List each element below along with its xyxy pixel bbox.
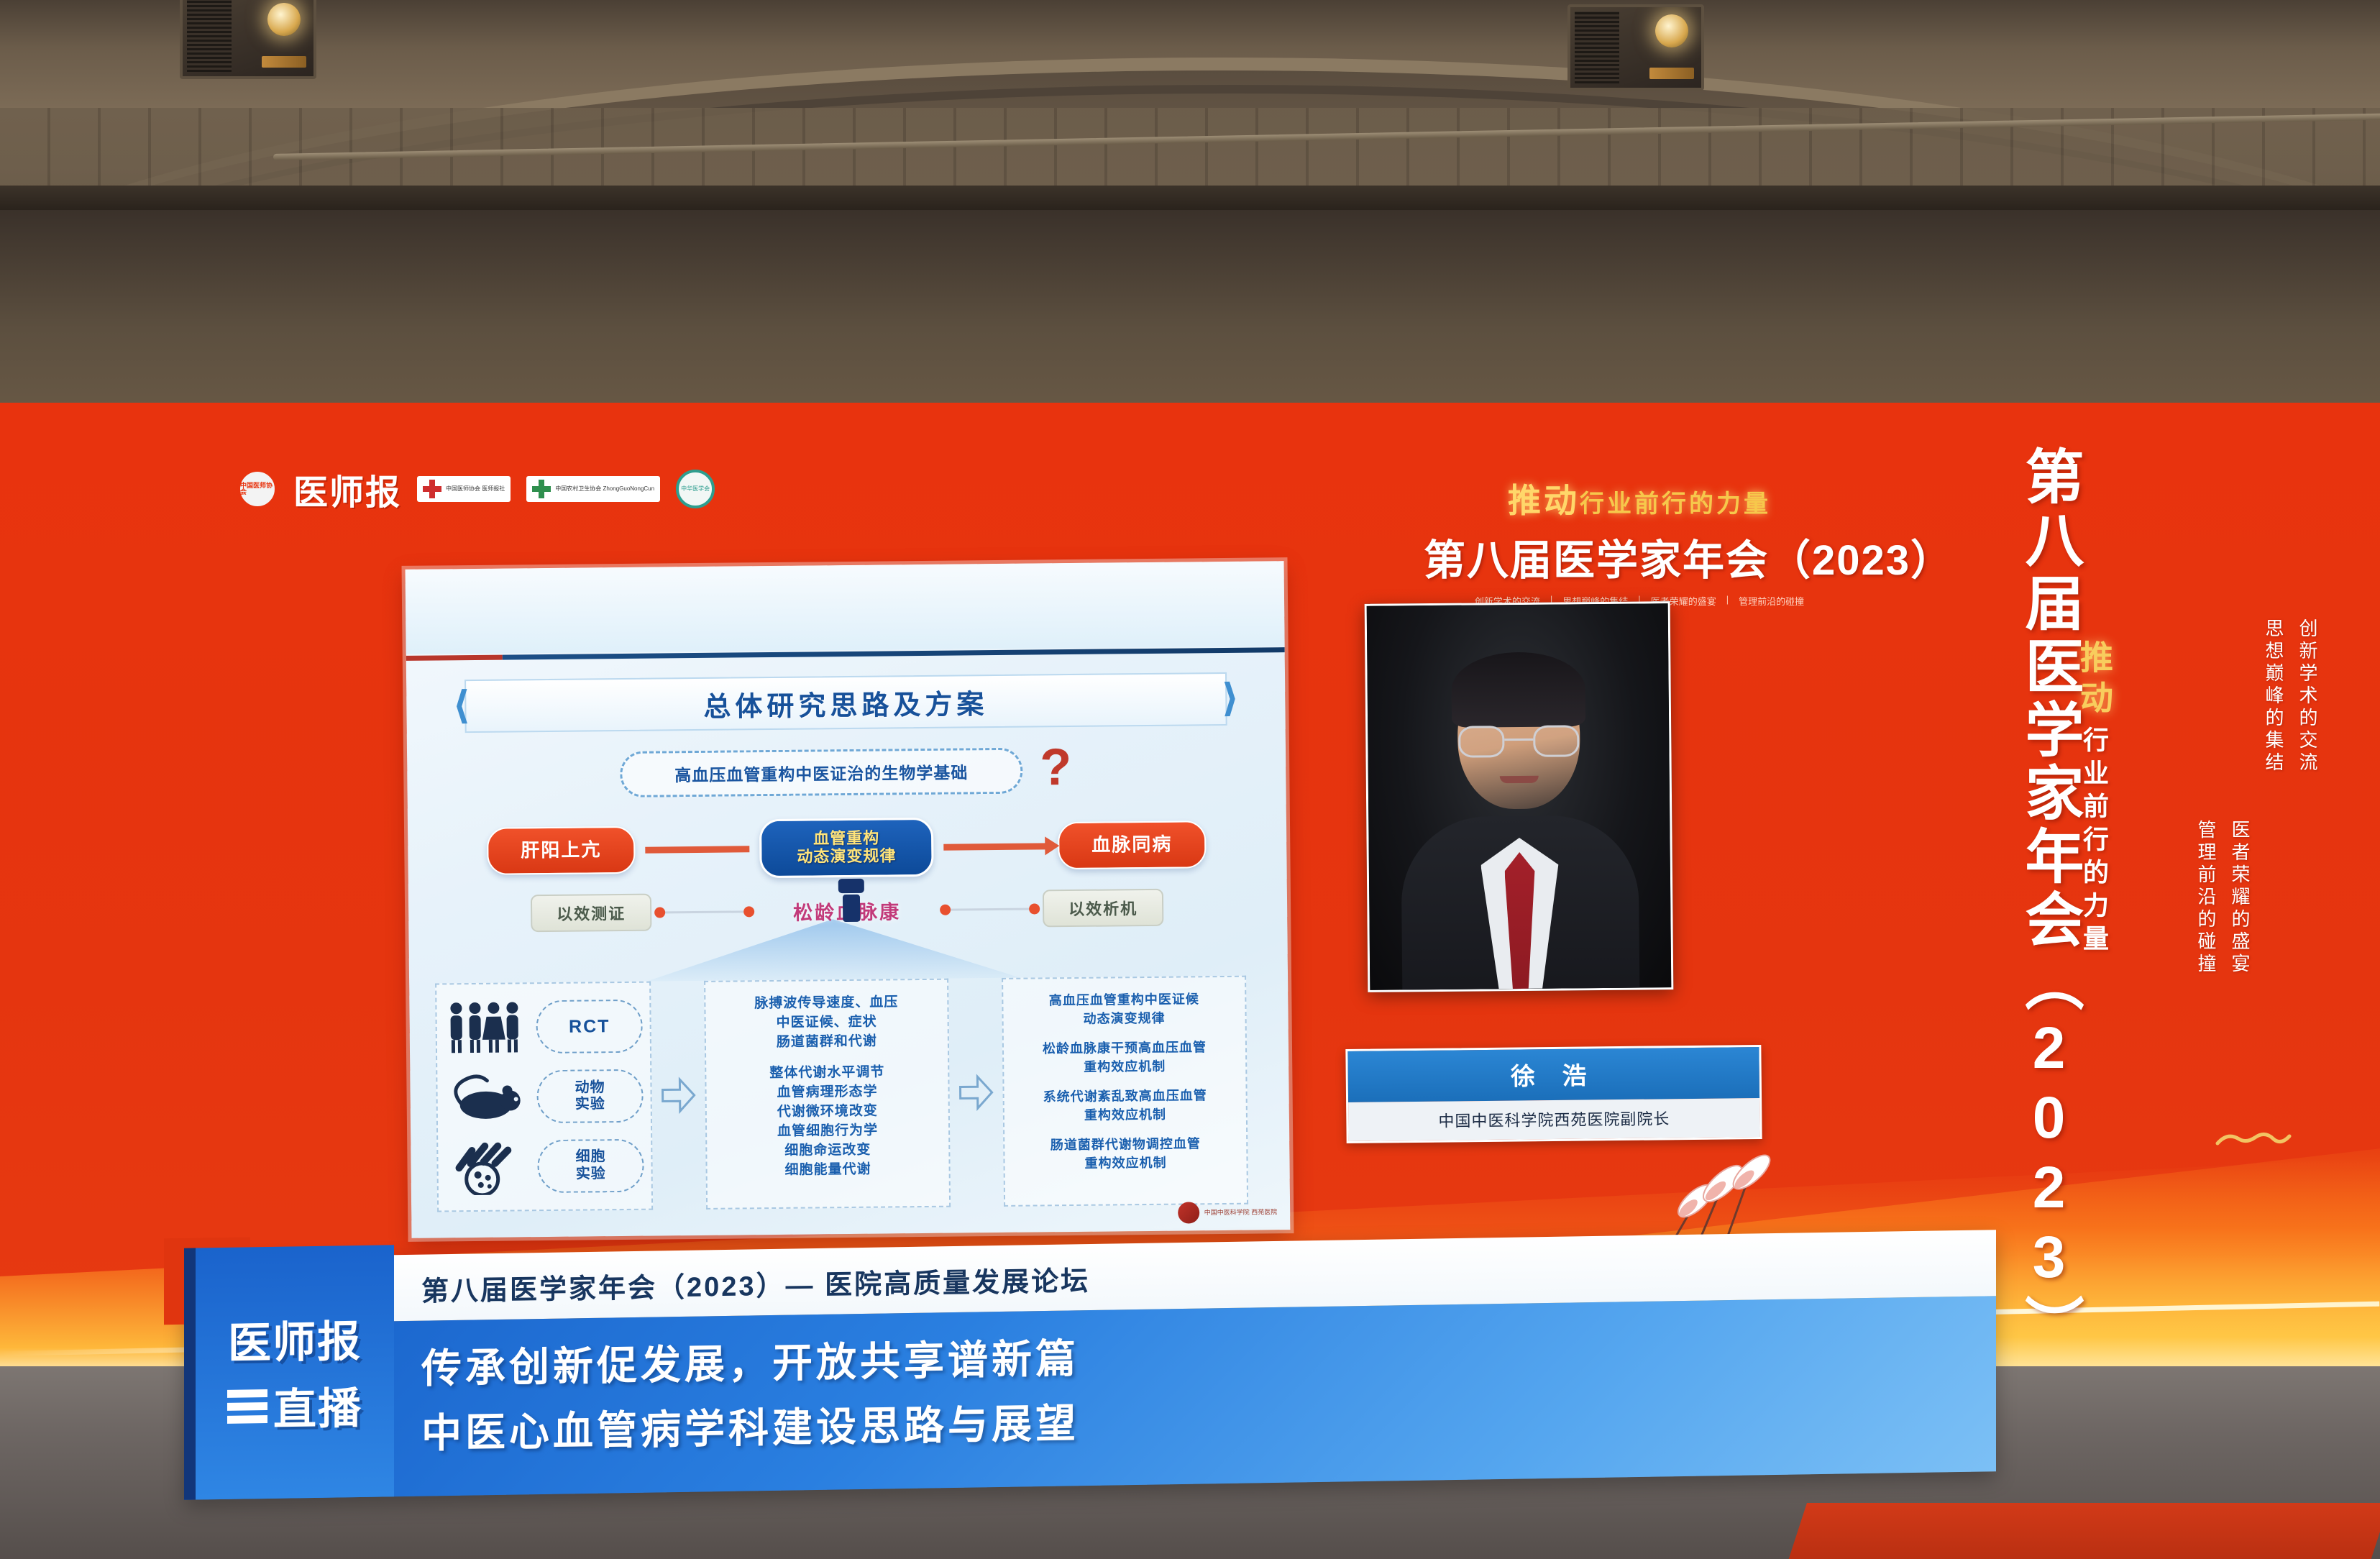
partner-logo-3: 中华医学会 [676, 470, 715, 508]
partner-logo-1: 中国医师协会 医师报社 [417, 476, 511, 502]
live-stream-badge: 医师报 直播 [184, 1245, 394, 1500]
slide-heading-box: 总体研究思路及方案 [464, 672, 1227, 733]
capsule-icon [833, 879, 870, 912]
cell-culture-icon [445, 1137, 528, 1197]
c3-i1-line-0: 松龄血脉康干预高血压血管 [1011, 1038, 1238, 1059]
yishibao-wordmark: 医师报 [293, 464, 401, 514]
sponsor-logo-row: 中国医师协会 医师报 中国医师协会 医师报社 中国农村卫生协会 ZhongGuo… [237, 464, 715, 514]
conference-title: 第八届医学家年会（2023） [1424, 526, 1855, 587]
vertical-slogan-2: 医者荣耀的盛宴 [2227, 820, 2253, 976]
ceiling-light-fixture-2 [1567, 4, 1704, 91]
study-label-cell-line2: 实验 [576, 1166, 606, 1183]
partner-logo-1-label: 中国医师协会 医师报社 [446, 485, 505, 492]
conference-tagline-lead: 推动 [1508, 482, 1580, 519]
c3-i2-line-1: 重构效应机制 [1012, 1105, 1239, 1126]
c3-i3-line-1: 重构效应机制 [1012, 1153, 1239, 1174]
vertical-banner-push-word: 推动 [2071, 640, 2118, 721]
vertical-slogan-columns: 创新学术的交流 思想巅峰的集结 医者荣耀的盛宴 管理前沿的碰撞 [2193, 618, 2321, 976]
study-label-rct: RCT [536, 1000, 643, 1053]
glasses-right-lens [1533, 725, 1579, 757]
c2-g2-line-3: 血管细胞行为学 [714, 1121, 941, 1143]
sub-tag-left: 以效测证 [531, 894, 651, 933]
slide-column-1: RCT 动物 实验 [435, 982, 653, 1212]
c2-g2-line-5: 细胞能量代谢 [714, 1160, 941, 1181]
flow-node-right: 血脉同病 [1058, 820, 1207, 869]
light-bar-icon [262, 56, 306, 68]
people-icon [444, 998, 526, 1058]
c2-g1-line-0: 脉搏波传导速度、血压 [713, 993, 940, 1015]
vent-grill-icon [187, 0, 232, 72]
study-label-animal: 动物 实验 [536, 1069, 643, 1123]
column-3-item-1: 松龄血脉康干预高血压血管 重构效应机制 [1011, 1038, 1238, 1077]
study-row-animal: 动物 实验 [444, 1066, 644, 1128]
flow-node-center-line2: 动态演变规律 [797, 847, 896, 866]
slide-question-text: 高血压血管重构中医证治的生物学基础 [674, 759, 968, 786]
three-bars-icon [227, 1389, 267, 1424]
conference-subtitle-3: 管理前沿的碰撞 [1739, 594, 1804, 608]
study-label-animal-line1: 动物 [575, 1079, 605, 1097]
rat-icon [444, 1067, 527, 1127]
ceiling [0, 0, 2380, 216]
green-cross-icon [532, 480, 551, 498]
lower-third-event-text: 第八届医学家年会（2023）— 医院高质量发展论坛 [421, 1258, 1090, 1309]
glasses-bridge [1504, 739, 1533, 741]
ceiling-light-fixture-1 [180, 0, 316, 79]
flow-arrow-2 [943, 843, 1048, 850]
vertical-slogan-3: 管理前沿的碰撞 [2193, 820, 2220, 976]
c2-g1-line-2: 肠道菌群和代谢 [713, 1032, 940, 1053]
slide-top-band [406, 561, 1285, 654]
conference-stage-scene: 中国医师协会 医师报 中国医师协会 医师报社 中国农村卫生协会 ZhongGuo… [0, 0, 2380, 1559]
lamp-icon [267, 3, 301, 36]
column-3-item-3: 肠道菌群代谢物调控血管 重构效应机制 [1012, 1135, 1239, 1174]
study-label-cell: 细胞 实验 [537, 1138, 644, 1192]
hospital-mark-icon [1178, 1202, 1200, 1223]
flow-arrow-1 [645, 846, 749, 853]
slide-question-box: 高血压血管重构中医证治的生物学基础 [620, 748, 1023, 797]
flow-node-left: 肝阳上亢 [487, 826, 636, 875]
vertical-slogan-0: 创新学术的交流 [2294, 618, 2321, 976]
cloud-swirl-ornament-icon [2215, 1122, 2294, 1151]
c2-g1-line-1: 中医证候、症状 [713, 1012, 940, 1034]
c2-g2-line-1: 血管病理形态学 [713, 1082, 940, 1104]
live-badge-live-text: 直播 [273, 1373, 362, 1437]
glasses-left-lens [1458, 726, 1504, 758]
upper-wall [0, 210, 2380, 426]
capsule-cap [838, 879, 864, 893]
projection-screen: ⟨ 总体研究思路及方案 ⟩ 高血压血管重构中医证治的生物学基础 ? 肝阳上亢 血… [406, 561, 1291, 1238]
subtitle-separator: | [1726, 594, 1729, 608]
capsule-body [843, 895, 860, 922]
slide-heading: 总体研究思路及方案 [703, 682, 989, 724]
c2-g2-line-0: 整体代谢水平调节 [713, 1063, 940, 1084]
live-badge-live: 直播 [227, 1373, 362, 1438]
flow-node-center-line1: 血管重构 [797, 830, 896, 849]
slide-columns: RCT 动物 实验 [435, 975, 1264, 1212]
speaker-title: 中国中医科学院西苑医院副院长 [1348, 1098, 1760, 1141]
lower-third-title-bar: 传承创新促发展，开放共享谱新篇 中医心血管病学科建设思路与展望 [184, 1296, 1996, 1500]
lower-third-banner: 第八届医学家年会（2023）— 医院高质量发展论坛 传承创新促发展，开放共享谱新… [184, 1230, 1996, 1500]
medical-cross-icon [423, 480, 441, 498]
study-row-rct: RCT [444, 997, 643, 1058]
c2-g2-line-4: 细胞命运改变 [714, 1140, 941, 1162]
hospital-logo-label: 中国中医科学院 西苑医院 [1204, 1208, 1278, 1217]
chevron-right-icon: ⟩ [1221, 675, 1239, 721]
partner-logo-2: 中国农村卫生协会 ZhongGuoNongCun [526, 476, 660, 502]
portrait-mouth [1499, 776, 1538, 783]
sub-connector-right [943, 907, 1037, 910]
sub-tag-right: 以效析机 [1043, 889, 1163, 928]
study-row-cell: 细胞 实验 [445, 1135, 644, 1197]
speaker-nameplate: 徐 浩 中国中医科学院西苑医院副院长 [1345, 1045, 1762, 1143]
speaker-name: 徐 浩 [1347, 1047, 1759, 1102]
speaker-portrait [1365, 601, 1674, 992]
lower-third-title-line1: 传承创新促发展，开放共享谱新篇 [421, 1326, 1079, 1394]
conference-tagline: 推动行业前行的力量 [1424, 475, 1855, 522]
slide-column-2: 脉搏波传导速度、血压 中医证候、症状 肠道菌群和代谢 整体代谢水平调节 血管病理… [704, 979, 951, 1210]
partner-logo-2-label: 中国农村卫生协会 ZhongGuoNongCun [555, 485, 654, 492]
lamp-icon [1655, 14, 1688, 47]
light-bar-icon [1649, 68, 1694, 79]
vertical-slogan-1: 思想巅峰的集结 [2261, 618, 2287, 976]
conference-tagline-rest: 行业前行的力量 [1580, 490, 1771, 518]
live-badge-brand: 医师报 [228, 1307, 362, 1371]
slide-flow-row: 肝阳上亢 血管重构 动态演变规律 血脉同病 [487, 815, 1207, 881]
chevron-left-icon: ⟨ [452, 682, 470, 728]
flow-node-center: 血管重构 动态演变规律 [759, 818, 934, 878]
question-mark-icon: ? [1040, 741, 1072, 793]
column-arrow-2-icon [956, 978, 997, 1207]
column-3-item-0: 高血压血管重构中医证候 动态演变规律 [1010, 990, 1237, 1029]
portrait-hair [1451, 652, 1585, 728]
c3-i2-line-0: 系统代谢紊乱致高血压血管 [1012, 1087, 1239, 1107]
study-label-cell-line1: 细胞 [575, 1149, 605, 1166]
conference-logo: 推动行业前行的力量 第八届医学家年会（2023） 创新学术的交流 | 思想巅峰的… [1424, 475, 1855, 608]
column-2-group-1: 脉搏波传导速度、血压 中医证候、症状 肠道菌群和代谢 [713, 993, 940, 1053]
study-label-animal-line2: 实验 [575, 1096, 605, 1113]
association-seal-icon: 中国医师协会 [237, 469, 278, 509]
portrait-glasses-icon [1458, 725, 1579, 757]
sub-connector-left [657, 910, 751, 913]
column-3-item-2: 系统代谢紊乱致高血压血管 重构效应机制 [1012, 1087, 1239, 1125]
c2-g2-line-2: 代谢微环境改变 [714, 1102, 941, 1123]
slide-heading-wrap: ⟨ 总体研究思路及方案 ⟩ [426, 667, 1265, 737]
slide-column-3: 高血压血管重构中医证候 动态演变规律 松龄血脉康干预高血压血管 重构效应机制 系… [1002, 976, 1248, 1207]
c3-i0-line-0: 高血压血管重构中医证候 [1010, 990, 1237, 1011]
column-2-group-2: 整体代谢水平调节 血管病理形态学 代谢微环境改变 血管细胞行为学 细胞命运改变 … [713, 1063, 942, 1181]
vertical-banner-push-rest: 行业前行的力量 [2075, 726, 2113, 958]
c3-i3-line-0: 肠道菌群代谢物调控血管 [1012, 1135, 1239, 1156]
rule-red-segment [406, 655, 503, 661]
ceiling-beam [0, 186, 2380, 210]
column-arrow-1-icon [658, 981, 699, 1210]
lower-third-title-line2: 中医心血管病学科建设思路与展望 [421, 1391, 1079, 1459]
floor-red-carpet [1788, 1503, 2380, 1559]
vent-grill-icon [1575, 12, 1619, 83]
slide-hospital-logo: 中国中医科学院 西苑医院 [1178, 1201, 1278, 1223]
c3-i0-line-1: 动态演变规律 [1010, 1008, 1237, 1029]
c3-i1-line-1: 重构效应机制 [1011, 1056, 1238, 1077]
